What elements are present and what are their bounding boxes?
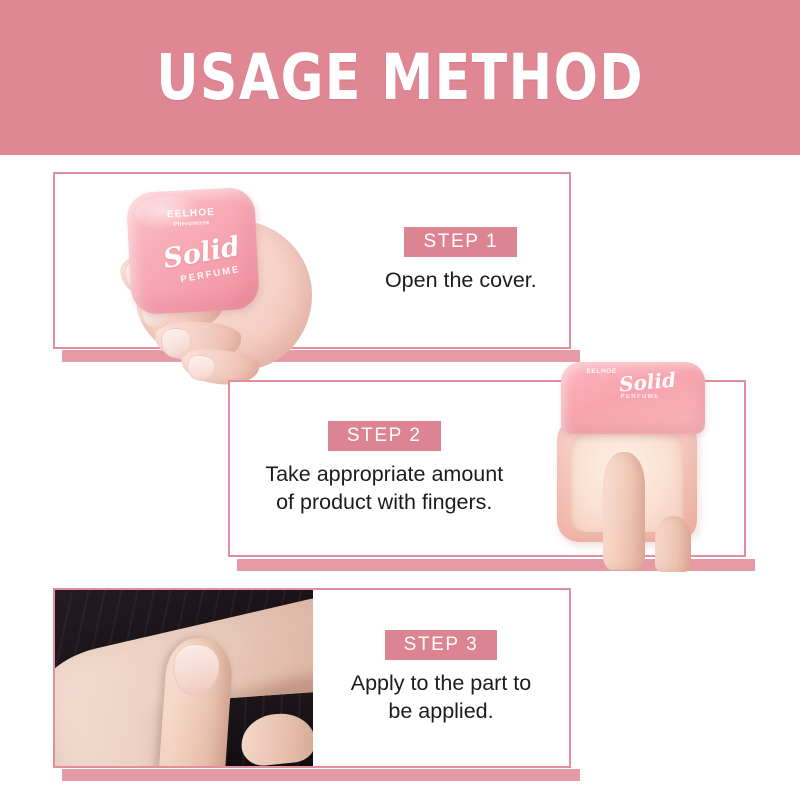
product-brand-sublabel: Pheromone [128,218,256,231]
hand-holding-closed-compact-photo: EELHOE Pheromone Solid PERFUME [55,172,353,349]
finger-dipping-open-compact-photo: EELHOE Solid PERFUME [533,380,745,557]
step-3-card-inner: STEP 3 Apply to the part to be applied. [55,590,569,766]
step-2-badge: STEP 2 [328,421,441,451]
step-3-card-shadow [62,769,580,781]
step-1-text-block: STEP 1 Open the cover. [353,227,569,295]
index-finger-shape [603,452,645,570]
open-compact-illustration: EELHOE Solid PERFUME [551,366,711,556]
lid-subtitle-label: PERFUME [621,394,660,400]
step-2-card-inner: STEP 2 Take appropriate amount of produc… [230,382,744,555]
step-1-text: Open the cover. [385,267,537,295]
lid-script-label: Solid [618,368,677,397]
step-3-badge: STEP 3 [385,630,498,660]
header-banner: USAGE METHOD [0,0,800,155]
step-2-card[interactable]: STEP 2 Take appropriate amount of produc… [228,380,746,557]
step-2-text: Take appropriate amount of product with … [265,461,503,516]
step-3-text: Apply to the part to be applied. [351,670,531,725]
page-title: USAGE METHOD [156,46,644,109]
step-3-card[interactable]: STEP 3 Apply to the part to be applied. [53,588,571,768]
lid-brand-label: EELHOE [587,368,617,375]
applying-product-to-skin-photo [55,590,313,766]
step-1-badge: STEP 1 [404,227,517,257]
hand-illustration: EELHOE Pheromone Solid PERFUME [115,190,335,370]
step-1-card[interactable]: EELHOE Pheromone Solid PERFUME STEP 1 Op… [53,172,571,349]
step-1-card-inner: EELHOE Pheromone Solid PERFUME STEP 1 Op… [55,174,569,347]
compact-lid-shape: EELHOE Solid PERFUME [561,362,705,434]
step-3-text-block: STEP 3 Apply to the part to be applied. [313,630,569,725]
step-2-text-block: STEP 2 Take appropriate amount of produc… [230,421,533,516]
closed-compact-product: EELHOE Pheromone Solid PERFUME [126,187,260,316]
middle-finger-shape [655,516,691,572]
